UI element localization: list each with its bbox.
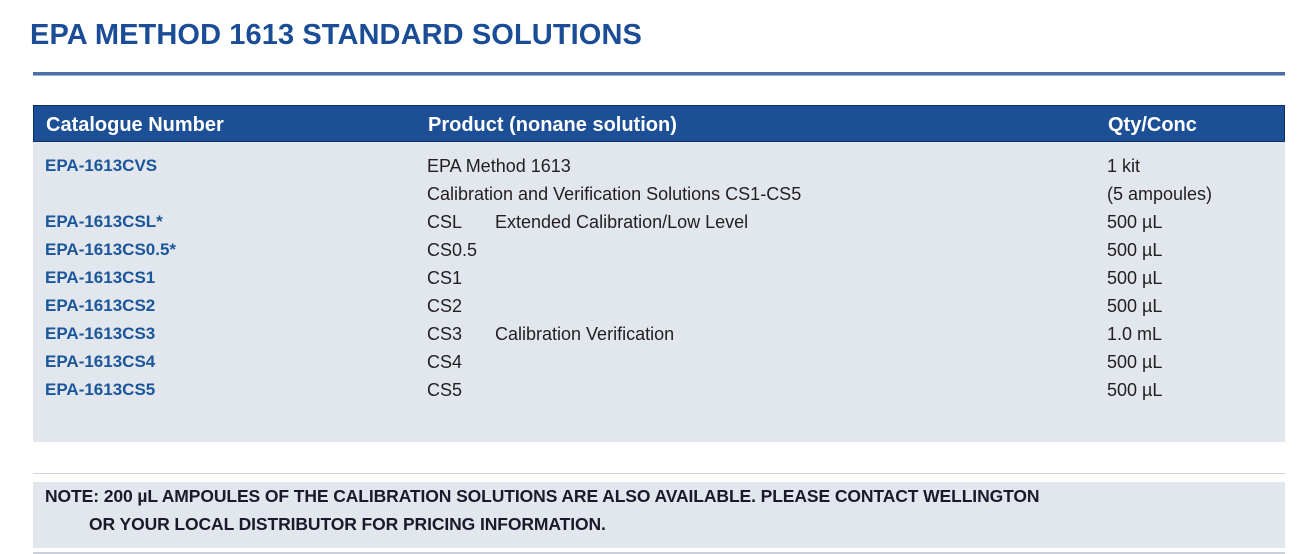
- cell-qty-conc: 1 kit: [1107, 152, 1140, 180]
- cell-product: CSL: [427, 208, 462, 236]
- cell-qty-conc: (5 ampoules): [1107, 180, 1212, 208]
- cell-qty-conc: 500 µL: [1107, 208, 1162, 236]
- cell-qty-conc: 500 µL: [1107, 292, 1162, 320]
- cell-product: CS4: [427, 348, 462, 376]
- cell-qty-conc: 500 µL: [1107, 348, 1162, 376]
- page-title: EPA METHOD 1613 STANDARD SOLUTIONS: [30, 19, 642, 52]
- cell-product: CS0.5: [427, 236, 477, 264]
- column-header-product: Product (nonane solution): [428, 114, 677, 137]
- cell-product-description: Extended Calibration/Low Level: [495, 208, 748, 236]
- cell-qty-conc: 1.0 mL: [1107, 320, 1162, 348]
- cell-product-description: Calibration Verification: [495, 320, 674, 348]
- table-row: EPA-1613CS4 CS4 500 µL: [33, 348, 1285, 376]
- table-row: EPA-1613CS3 CS3 Calibration Verification…: [33, 320, 1285, 348]
- cell-qty-conc: 500 µL: [1107, 376, 1162, 404]
- cell-product: CS5: [427, 376, 462, 404]
- cell-product: Calibration and Verification Solutions C…: [427, 180, 801, 208]
- cell-catalogue-number[interactable]: EPA-1613CS4: [45, 348, 155, 376]
- table-row: EPA-1613CS1 CS1 500 µL: [33, 264, 1285, 292]
- column-header-qty-conc: Qty/Conc: [1108, 114, 1197, 137]
- table-row: Calibration and Verification Solutions C…: [33, 180, 1285, 208]
- table-row: EPA-1613CVS EPA Method 1613 1 kit: [33, 152, 1285, 180]
- cell-catalogue-number[interactable]: EPA-1613CVS: [45, 152, 157, 180]
- title-divider-rule-thin: [33, 75, 1285, 76]
- cell-qty-conc: 500 µL: [1107, 264, 1162, 292]
- cell-product: CS3: [427, 320, 462, 348]
- standard-solutions-table: Catalogue Number Product (nonane solutio…: [33, 105, 1285, 442]
- cell-product: CS1: [427, 264, 462, 292]
- note-separator: [33, 473, 1285, 474]
- table-row: EPA-1613CS5 CS5 500 µL: [33, 376, 1285, 404]
- cell-qty-conc: 500 µL: [1107, 236, 1162, 264]
- table-row: EPA-1613CS2 CS2 500 µL: [33, 292, 1285, 320]
- cell-product: CS2: [427, 292, 462, 320]
- table-note: NOTE: 200 µL AMPOULES OF THE CALIBRATION…: [33, 482, 1285, 548]
- table-row: EPA-1613CS0.5* CS0.5 500 µL: [33, 236, 1285, 264]
- table-body: EPA-1613CVS EPA Method 1613 1 kit Calibr…: [33, 142, 1285, 442]
- note-line-2: OR YOUR LOCAL DISTRIBUTOR FOR PRICING IN…: [89, 514, 606, 535]
- cell-catalogue-number[interactable]: EPA-1613CS2: [45, 292, 155, 320]
- cell-catalogue-number[interactable]: EPA-1613CSL*: [45, 208, 163, 236]
- document-page: EPA METHOD 1613 STANDARD SOLUTIONS Catal…: [0, 0, 1316, 530]
- cell-catalogue-number[interactable]: EPA-1613CS3: [45, 320, 155, 348]
- cell-catalogue-number[interactable]: EPA-1613CS5: [45, 376, 155, 404]
- cell-product: EPA Method 1613: [427, 152, 571, 180]
- table-row: EPA-1613CSL* CSL Extended Calibration/Lo…: [33, 208, 1285, 236]
- table-header-row: Catalogue Number Product (nonane solutio…: [33, 105, 1285, 142]
- column-header-catalogue-number: Catalogue Number: [46, 114, 224, 137]
- note-line-1: NOTE: 200 µL AMPOULES OF THE CALIBRATION…: [45, 486, 1039, 507]
- cell-catalogue-number[interactable]: EPA-1613CS1: [45, 264, 155, 292]
- cell-catalogue-number[interactable]: EPA-1613CS0.5*: [45, 236, 176, 264]
